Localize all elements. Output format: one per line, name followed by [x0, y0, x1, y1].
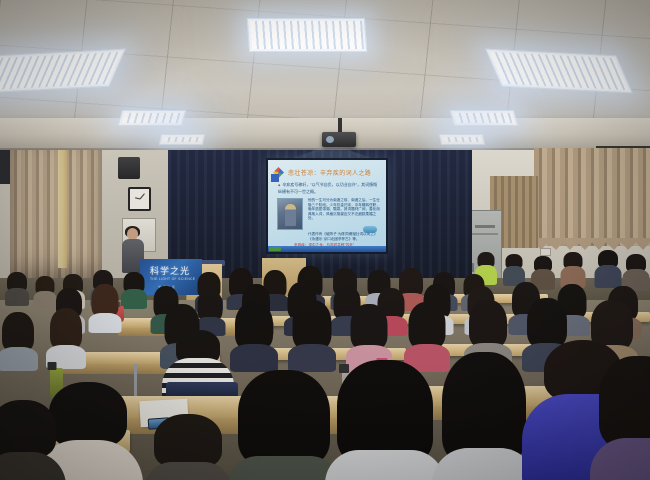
list-item	[48, 308, 84, 366]
fluorescent-panel-far-left-icon	[159, 134, 205, 145]
left-pillar-trim	[58, 150, 67, 268]
list-item	[122, 272, 146, 306]
person-torso	[230, 344, 278, 372]
slide-taskbar	[268, 246, 386, 252]
right-window-curtain	[534, 148, 650, 246]
list-item	[0, 400, 62, 480]
person-hair	[238, 370, 330, 466]
list-item	[232, 302, 276, 368]
banner-title-cn: 科学之光	[150, 264, 190, 277]
fluorescent-panel-rear-right-icon	[450, 110, 519, 126]
fluorescent-panel-center-icon	[247, 18, 367, 52]
person-hair	[235, 302, 273, 350]
banner-title-en: THE LIGHT OF SCIENCE	[150, 277, 195, 281]
person-torso	[0, 452, 66, 480]
door-sign-secondary	[472, 233, 498, 235]
list-item	[34, 276, 56, 306]
list-item	[504, 254, 524, 284]
projector-lens-icon	[326, 136, 334, 143]
person-torso	[121, 289, 147, 309]
person-hair	[599, 356, 650, 448]
door-sign	[475, 225, 495, 228]
wall-socket-icon	[540, 248, 551, 256]
slide-note-text: 代表作有《破阵子·为陈同甫赋壮词以寄之》《永遇乐·京口北固亭怀古》等。	[308, 232, 381, 241]
list-item	[330, 360, 440, 480]
presentation-slide: 悲壮苍凉：辛弃疾的词人之路 辛弃疾号稼轩，"以气节自负，以功业自许"，其词慷慨纵…	[268, 160, 386, 252]
left-window-curtain	[10, 150, 102, 282]
list-item	[232, 370, 336, 480]
slide-bullet: 辛弃疾号稼轩，"以气节自负，以功业自许"，其词慷慨纵横有不可一世之概。	[278, 182, 381, 194]
person-torso	[5, 288, 29, 306]
person-hair	[50, 308, 82, 350]
list-item	[148, 414, 228, 480]
person-hair	[337, 360, 433, 464]
projection-screen: 悲壮苍凉：辛弃疾的词人之路 辛弃疾号稼轩，"以气节自负，以功业自许"，其词慷慨纵…	[266, 158, 388, 254]
list-item	[624, 254, 648, 288]
person-torso	[228, 456, 340, 480]
list-item	[290, 300, 334, 368]
list-item	[562, 252, 584, 286]
fluorescent-panel-left-icon	[0, 49, 126, 94]
person-hair	[293, 300, 332, 350]
fluorescent-panel-far-right-icon	[439, 134, 485, 145]
person-torso	[325, 450, 445, 480]
list-item	[90, 284, 120, 330]
person-torso	[595, 265, 622, 288]
person-torso	[89, 313, 122, 333]
slide-badge	[363, 226, 377, 233]
list-item	[594, 356, 650, 480]
list-item	[596, 250, 620, 286]
fluorescent-panel-right-icon	[485, 49, 633, 94]
bottle-cap	[48, 362, 57, 370]
wall-clock-icon	[128, 187, 151, 211]
slide-body-text: 他的一生可分为南渡之前、南渡之后、一生仕隐三个阶段。少年抗金归宋，中年辗转任职，…	[308, 198, 381, 221]
classroom-scene: 悲壮苍凉：辛弃疾的词人之路 辛弃疾号稼轩，"以气节自负，以功业自许"，其词慷慨纵…	[0, 0, 650, 480]
person-hair	[469, 300, 507, 348]
list-item	[0, 312, 36, 368]
slide-title: 悲壮苍凉：辛弃疾的词人之路	[288, 168, 380, 177]
slide-portrait-image	[277, 198, 303, 230]
person-hair	[0, 400, 56, 458]
person-torso	[590, 438, 650, 480]
list-item	[436, 352, 532, 480]
wall-speaker-icon	[118, 157, 140, 179]
fluorescent-panel-rear-left-icon	[118, 110, 187, 126]
person-hair	[2, 312, 34, 352]
person-hair	[409, 302, 446, 349]
person-hair	[154, 414, 222, 468]
taskbar-start-button[interactable]	[269, 247, 281, 251]
person-hair	[442, 352, 526, 462]
person-torso	[144, 462, 232, 480]
list-item	[6, 272, 28, 304]
person-torso	[0, 347, 38, 371]
person-hair	[351, 304, 388, 350]
person-torso	[288, 344, 336, 372]
slide-logo-block-icon	[271, 174, 279, 182]
